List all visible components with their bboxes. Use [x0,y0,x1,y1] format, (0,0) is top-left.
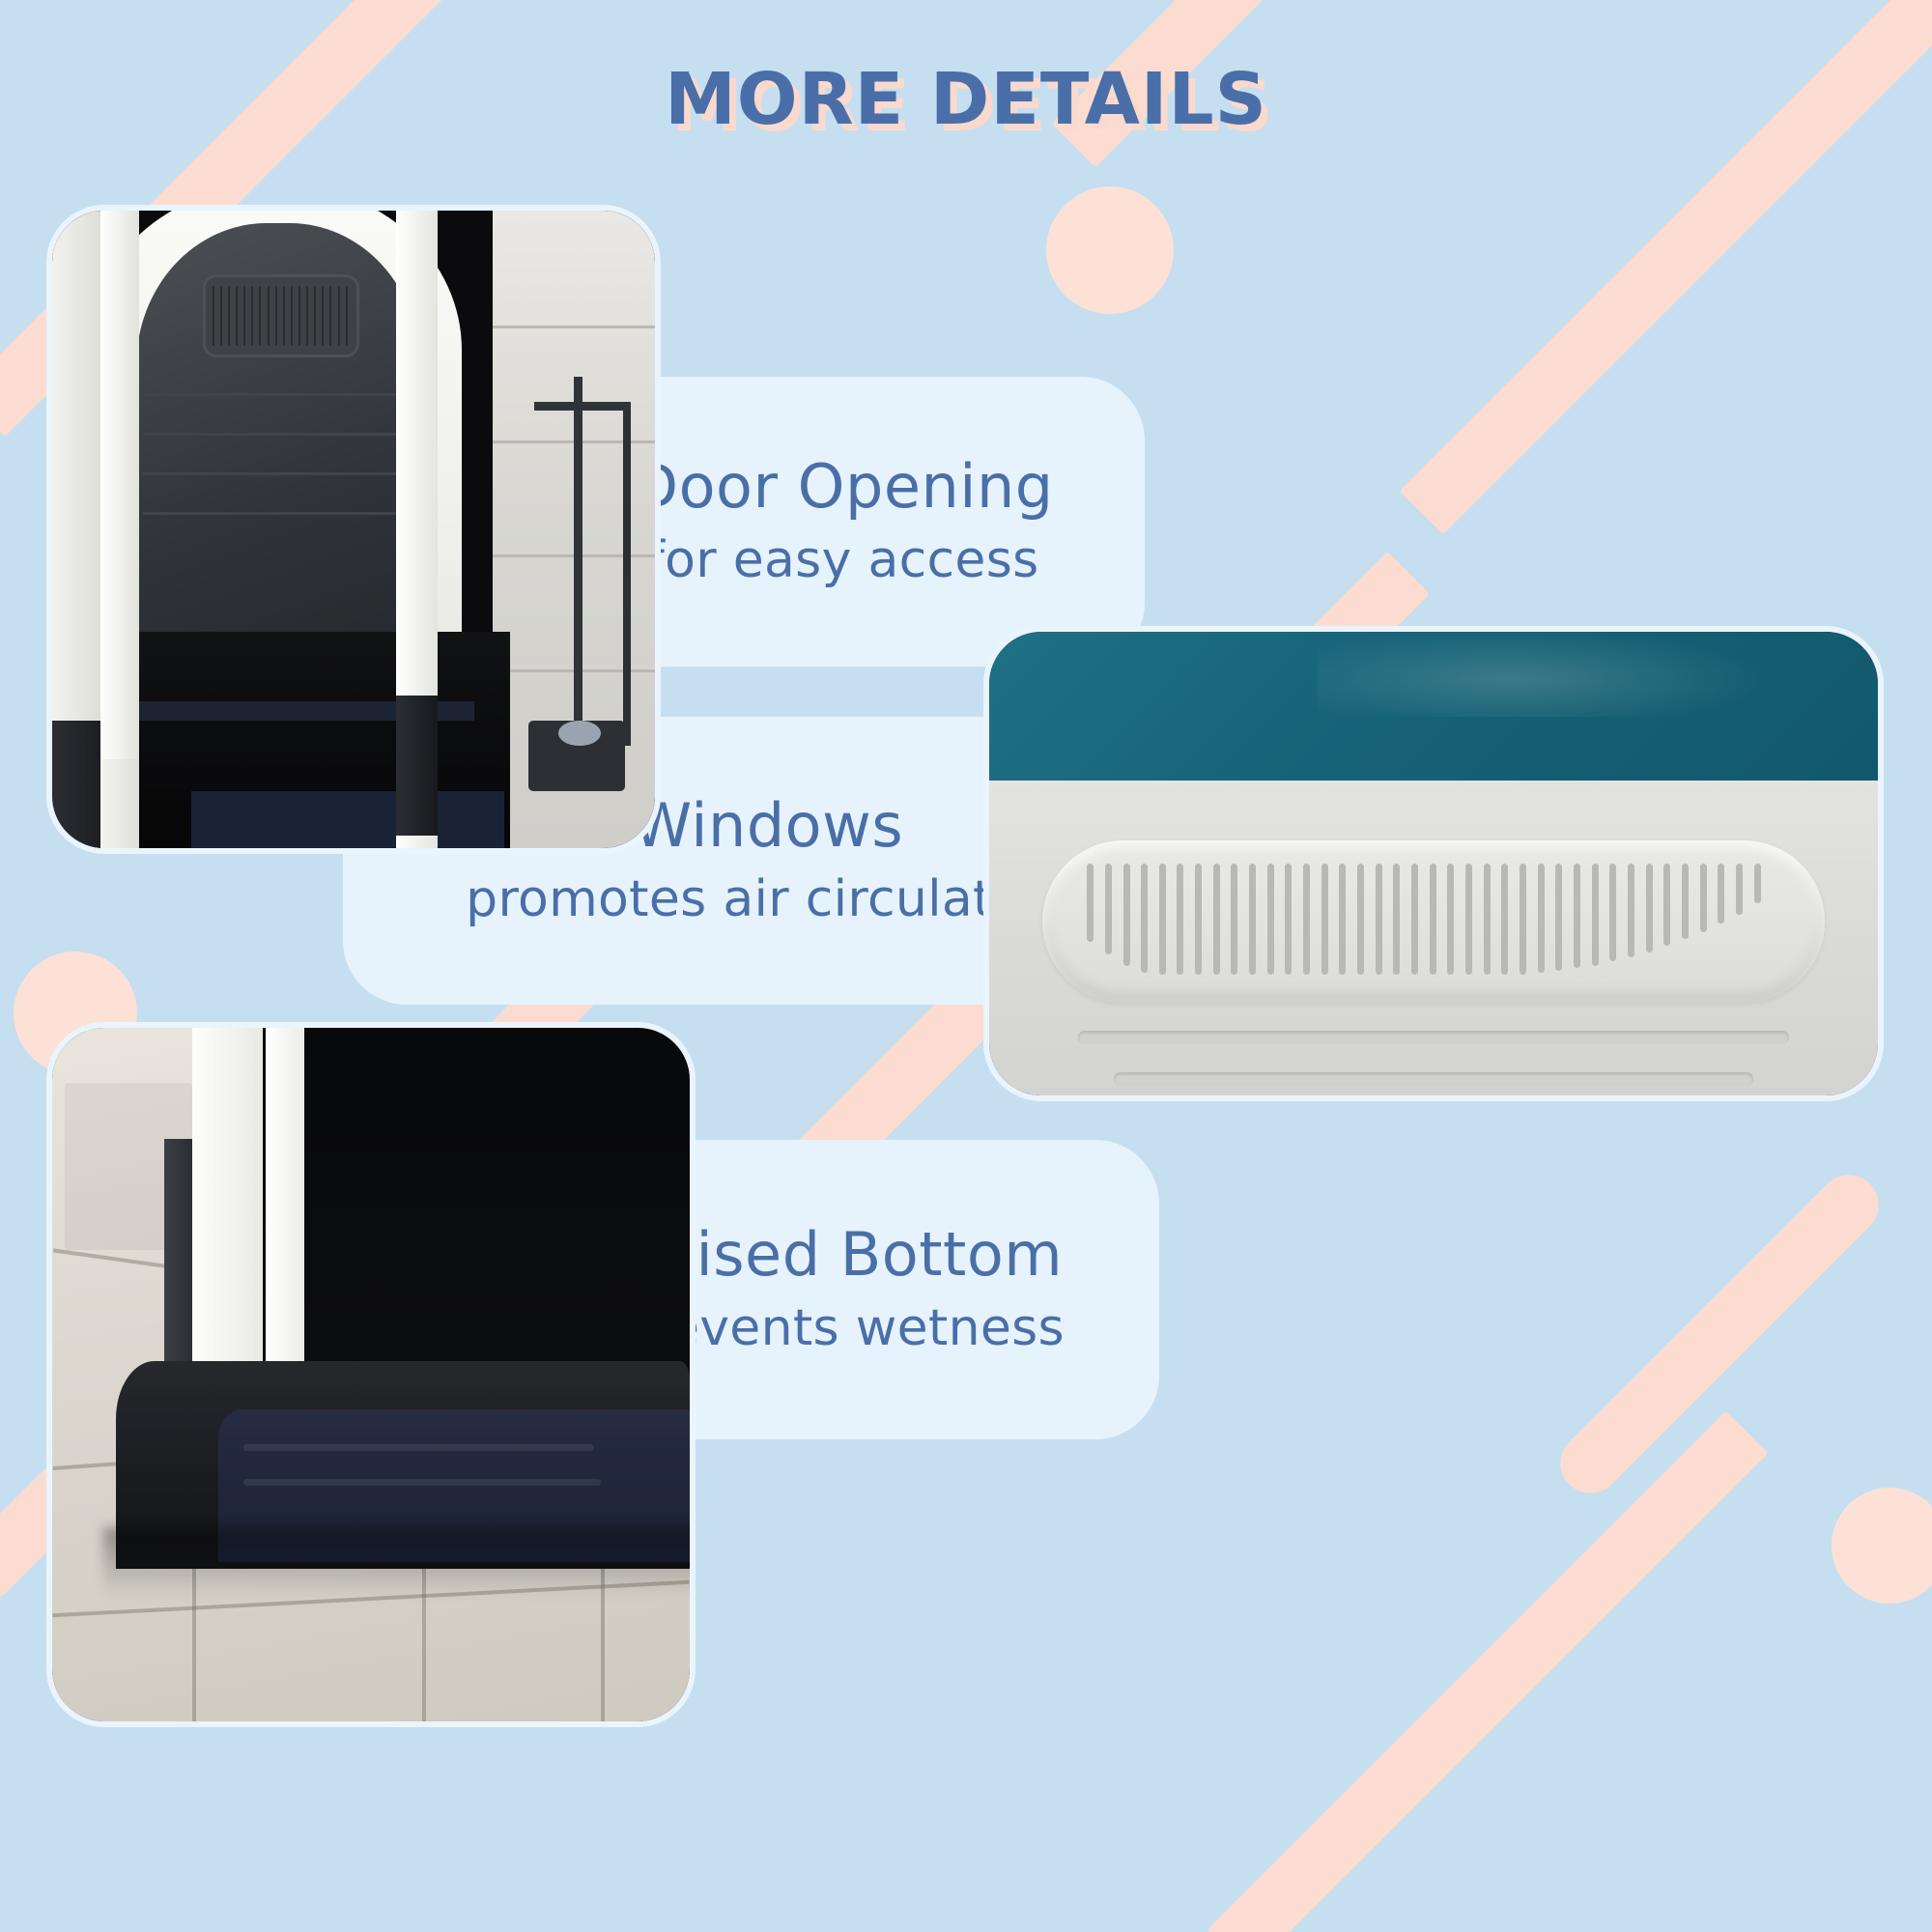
pink-circle-top-right [1046,186,1174,314]
feature-subtitle-windows: promotes air circulation [466,869,1070,929]
feature-photo-raised-bottom [46,1022,696,1727]
feature-photo-door-opening [46,205,661,854]
feature-title-door-opening: Door Opening [632,453,1053,520]
feature-subtitle-door-opening: for easy access [646,530,1038,590]
infographic-canvas: MORE DETAILS Door Opening for easy acces… [0,0,1932,1932]
feature-title-windows: Windows [633,792,903,859]
page-title-container: MORE DETAILS [0,58,1932,141]
diagonal-stripe-7 [1207,1410,1768,1932]
diagonal-stripe-6 [1548,1163,1891,1506]
feature-photo-windows [983,626,1884,1101]
page-title: MORE DETAILS [665,58,1267,141]
pink-circle-bottom-right [1832,1488,1932,1604]
